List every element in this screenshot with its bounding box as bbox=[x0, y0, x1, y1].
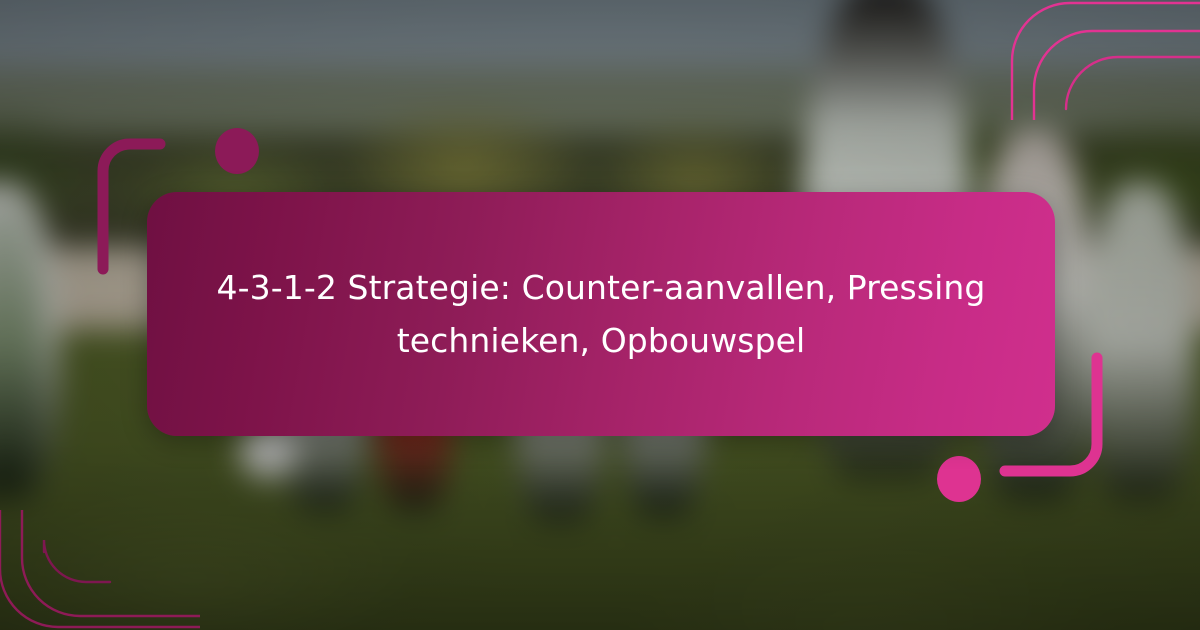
page-title: 4-3-1-2 Strategie: Counter-aanvallen, Pr… bbox=[206, 261, 996, 368]
dot-top-left-icon bbox=[215, 128, 259, 174]
corner-frame-top-right-icon bbox=[1000, 0, 1200, 120]
title-card: 4-3-1-2 Strategie: Counter-aanvallen, Pr… bbox=[147, 192, 1055, 436]
share-card-canvas: 4-3-1-2 Strategie: Counter-aanvallen, Pr… bbox=[0, 0, 1200, 630]
dot-bottom-right-icon bbox=[937, 456, 981, 502]
corner-frame-bottom-left-icon bbox=[0, 510, 200, 630]
